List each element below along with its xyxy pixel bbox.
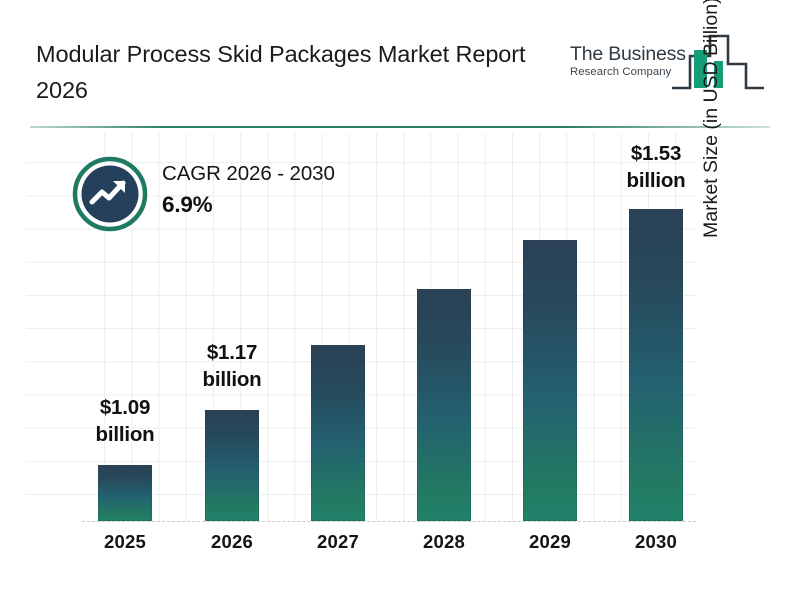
bar-2026[interactable]	[205, 410, 259, 521]
cagr-value-label: 6.9%	[162, 189, 402, 221]
bar-value-label-2025-line2: billion	[65, 421, 185, 448]
header-divider	[30, 126, 770, 128]
y-axis-title: Market Size (in USD Billion)	[696, 0, 726, 240]
bar-value-label-2025-line1: $1.09	[65, 394, 185, 421]
trend-up-icon	[72, 156, 148, 232]
bar-2027[interactable]	[311, 345, 365, 521]
bar-fill-2025	[98, 465, 152, 521]
x-tick-2025: 2025	[80, 531, 170, 553]
bar-value-label-2026-line2: billion	[172, 366, 292, 393]
bar-2028[interactable]	[417, 289, 471, 521]
page-title: Modular Process Skid Packages Market Rep…	[36, 36, 556, 108]
bar-fill-2027	[311, 345, 365, 521]
chart-page: Modular Process Skid Packages Market Rep…	[0, 0, 800, 600]
bar-fill-2026	[205, 410, 259, 521]
cagr-period-label: CAGR 2026 - 2030	[162, 159, 402, 189]
cagr-badge: CAGR 2026 - 2030 6.9%	[72, 156, 402, 232]
bar-2025[interactable]	[98, 465, 152, 521]
bar-fill-2029	[523, 240, 577, 521]
x-tick-2026: 2026	[187, 531, 277, 553]
x-tick-2028: 2028	[399, 531, 489, 553]
bar-2029[interactable]	[523, 240, 577, 521]
x-axis-tick-labels: 2025 2026 2027 2028 2029 2030	[82, 531, 696, 559]
bar-value-label-2026: $1.17 billion	[172, 339, 292, 393]
x-tick-2027: 2027	[293, 531, 383, 553]
bar-2030[interactable]	[629, 209, 683, 521]
bar-fill-2028	[417, 289, 471, 521]
cagr-text-group: CAGR 2026 - 2030 6.9%	[162, 159, 402, 221]
company-logo: The Business Research Company	[566, 30, 766, 102]
header: Modular Process Skid Packages Market Rep…	[0, 0, 800, 127]
bar-value-label-2025: $1.09 billion	[65, 394, 185, 448]
bar-fill-2030	[629, 209, 683, 521]
y-axis-title-text: Market Size (in USD Billion)	[696, 0, 726, 240]
x-tick-2030: 2030	[611, 531, 701, 553]
bar-value-label-2026-line1: $1.17	[172, 339, 292, 366]
x-tick-2029: 2029	[505, 531, 595, 553]
